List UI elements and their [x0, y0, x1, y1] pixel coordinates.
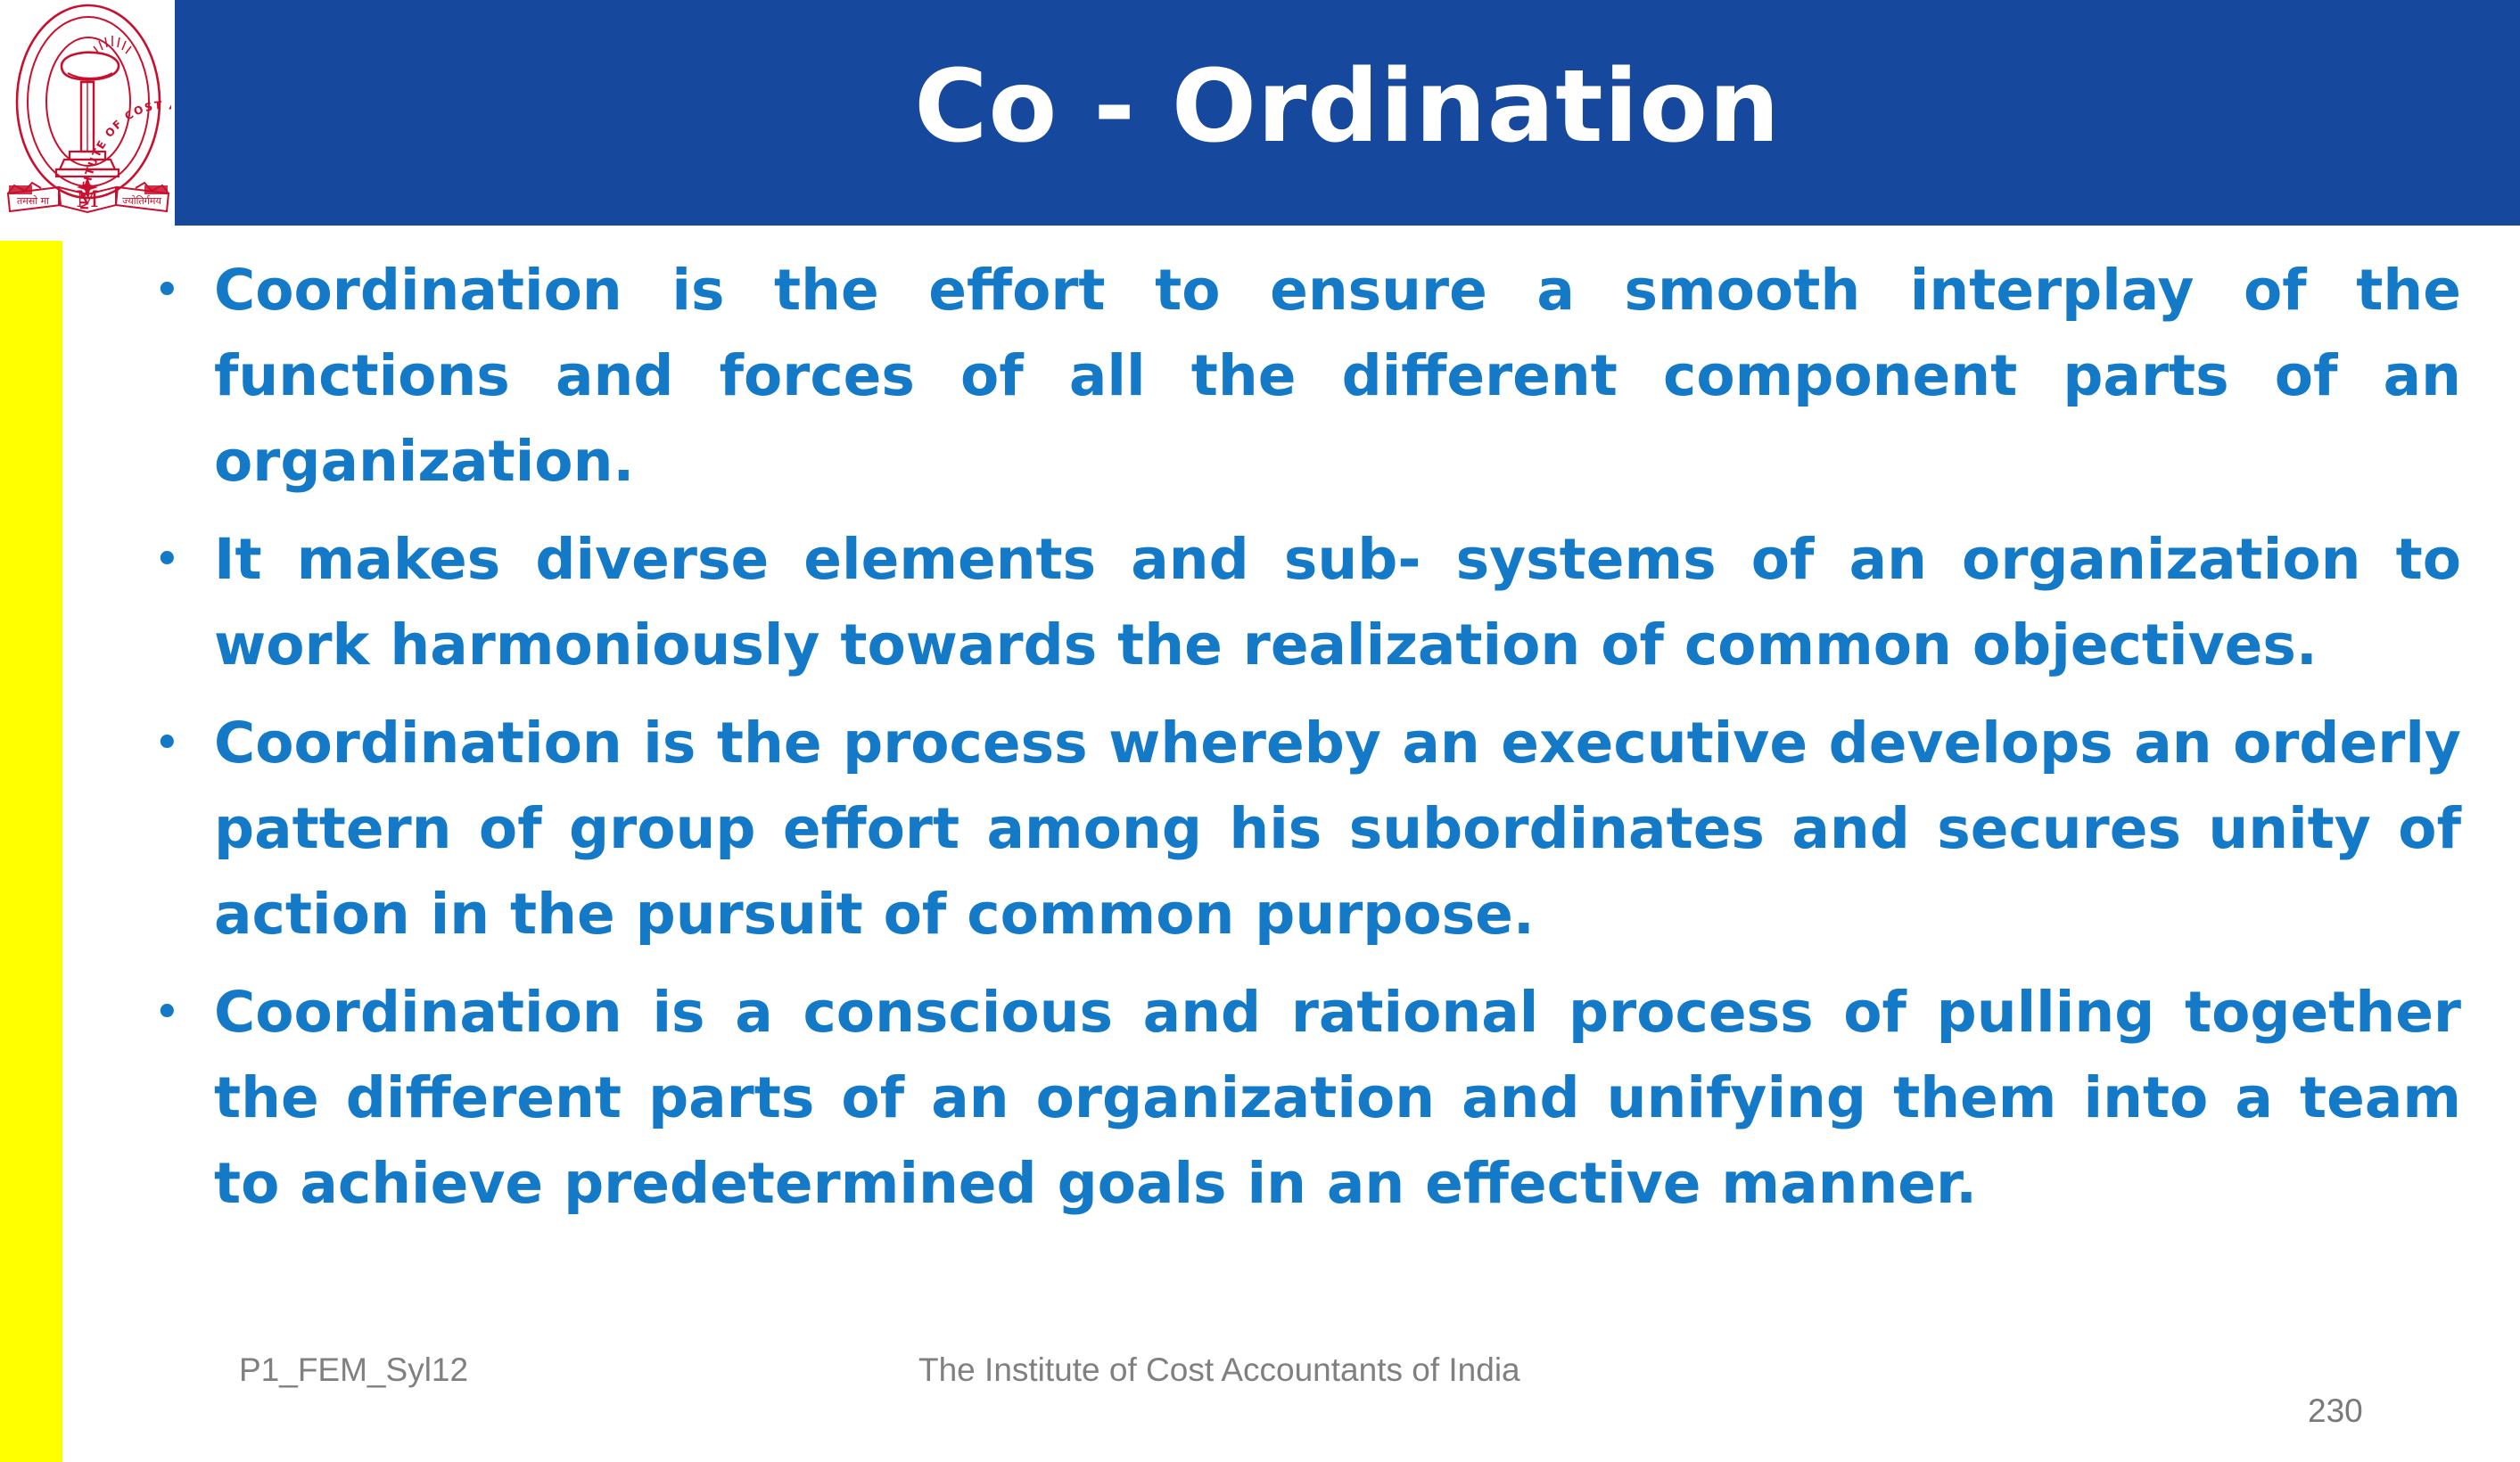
institute-logo: THE INSTITUTE OF COST ACCOUNTANTS OF IND… — [5, 2, 171, 225]
list-item: • It makes diverse elements and sub- sys… — [134, 517, 2461, 688]
list-item: • Coordination is the process whereby an… — [134, 701, 2461, 957]
bullet-text: Coordination is a conscious and rational… — [214, 970, 2461, 1227]
content-body: • Coordination is the effort to ensure a… — [134, 248, 2461, 1239]
bullet-marker-icon: • — [134, 517, 214, 603]
bullet-text: Coordination is the process whereby an e… — [214, 701, 2461, 957]
bullet-text: Coordination is the effort to ensure a s… — [214, 248, 2461, 505]
svg-text:M: M — [76, 186, 99, 212]
footer-course-code: P1_FEM_Syl12 — [239, 1351, 468, 1389]
slide-canvas: Co - Ordination THE INSTITUTE OF COST AC… — [0, 0, 2520, 1462]
bullet-marker-icon: • — [134, 970, 214, 1055]
footer-institute-name: The Institute of Cost Accountants of Ind… — [918, 1351, 1520, 1389]
svg-text:ज्योतिर्गमय: ज्योतिर्गमय — [122, 195, 161, 207]
bullet-text: It makes diverse elements and sub- syste… — [214, 517, 2461, 688]
bullet-marker-icon: • — [134, 248, 214, 333]
left-accent-bar — [0, 241, 62, 1462]
page-title: Co - Ordination — [175, 0, 2520, 226]
list-item: • Coordination is the effort to ensure a… — [134, 248, 2461, 505]
bullet-marker-icon: • — [134, 701, 214, 786]
svg-text:तमसो मा: तमसो मा — [17, 195, 49, 207]
footer-page-number: 230 — [2308, 1392, 2363, 1430]
list-item: • Coordination is a conscious and ration… — [134, 970, 2461, 1227]
